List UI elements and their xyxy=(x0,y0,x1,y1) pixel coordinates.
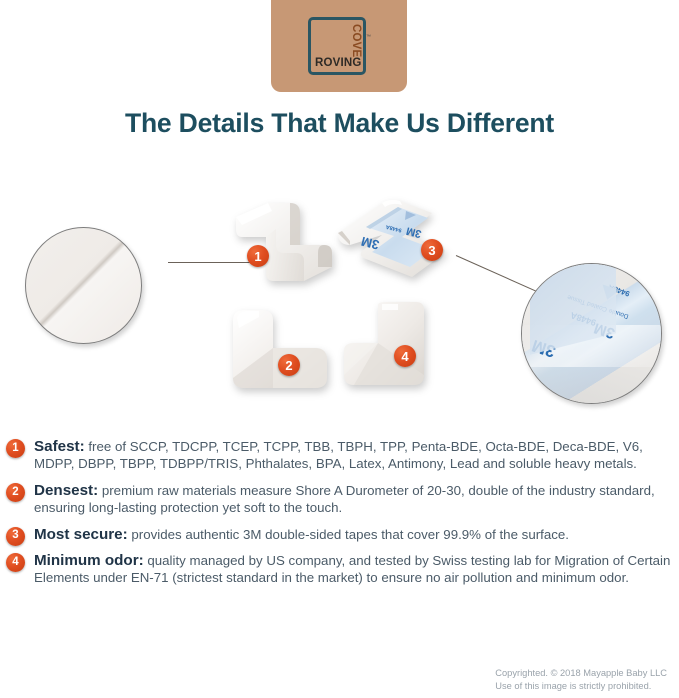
tape-code-label: 9448A xyxy=(569,310,597,328)
tape-macro-surface: 3M 3M 9448A Double Coated Tissue 9448A xyxy=(522,264,661,403)
logo-badge-background: ROVING COVE ™ xyxy=(271,0,407,92)
page-title: The Details That Make Us Different xyxy=(0,108,679,139)
feature-text-2: premium raw materials measure Shore A Du… xyxy=(34,483,655,515)
feature-text-1: free of SCCP, TDCPP, TCEP, TCPP, TBB, TB… xyxy=(34,439,643,471)
feature-item-minimum-odor: 4 Minimum odor: quality managed by US co… xyxy=(0,552,679,587)
feature-item-densest: 2 Densest: premium raw materials measure… xyxy=(0,482,679,517)
foam-closeup-magnifier xyxy=(25,227,142,344)
copyright-notice: Copyrighted. © 2018 Mayapple Baby LLC Us… xyxy=(495,667,667,692)
feature-list: 1 Safest: free of SCCP, TDCPP, TCEP, TCP… xyxy=(0,438,679,596)
copyright-line-1: Copyrighted. © 2018 Mayapple Baby LLC xyxy=(495,667,667,679)
tape-closeup-magnifier: 3M 3M 9448A Double Coated Tissue 9448A xyxy=(521,263,662,404)
feature-label-1: Safest: xyxy=(34,438,85,455)
svg-text:3M: 3M xyxy=(405,224,423,239)
corner-guard-2: 2 xyxy=(229,308,329,391)
feature-label-3: Most secure: xyxy=(34,526,128,543)
callout-badge-4: 4 xyxy=(394,345,416,367)
feature-number-1: 1 xyxy=(6,439,25,458)
logo-text-cove: COVE xyxy=(350,24,362,57)
corner-guard-4: 4 xyxy=(342,301,442,395)
copyright-line-2: Use of this image is strictly prohibited… xyxy=(495,680,667,692)
corner-guard-1: 1 xyxy=(228,201,332,297)
tape-description-label: Double Coated Tissue xyxy=(566,293,629,319)
feature-item-most-secure: 3 Most secure: provides authentic 3M dou… xyxy=(0,526,679,543)
trademark-symbol: ™ xyxy=(366,34,371,40)
feature-label-4: Minimum odor: xyxy=(34,552,144,569)
tape-brand-label-left: 3M xyxy=(529,335,558,361)
corner-guard-2-shape xyxy=(229,308,329,391)
logo-inner-frame: ROVING COVE ™ xyxy=(308,17,366,75)
feature-item-safest: 1 Safest: free of SCCP, TDCPP, TCEP, TCP… xyxy=(0,438,679,473)
logo-text-roving: ROVING xyxy=(315,58,362,70)
svg-text:3M: 3M xyxy=(360,234,381,253)
product-illustration: 1 2 xyxy=(0,175,679,425)
callout-badge-3: 3 xyxy=(421,239,443,261)
callout-badge-1: 1 xyxy=(247,245,269,267)
tape-triangle-icon xyxy=(596,283,622,305)
feature-label-2: Densest: xyxy=(34,482,98,499)
corner-guard-1-shape xyxy=(228,201,332,297)
callout-badge-2: 2 xyxy=(278,354,300,376)
feature-text-3: provides authentic 3M double-sided tapes… xyxy=(128,527,569,542)
feature-number-3: 3 xyxy=(6,527,25,546)
corner-guard-4-shape xyxy=(342,301,442,395)
feature-number-2: 2 xyxy=(6,483,25,502)
feature-number-4: 4 xyxy=(6,553,25,572)
brand-logo: ROVING COVE ™ xyxy=(271,0,407,92)
tape-brand-label-right: 3M xyxy=(592,319,617,342)
corner-guard-3: 3M 3M 9448A 3 xyxy=(336,197,452,283)
